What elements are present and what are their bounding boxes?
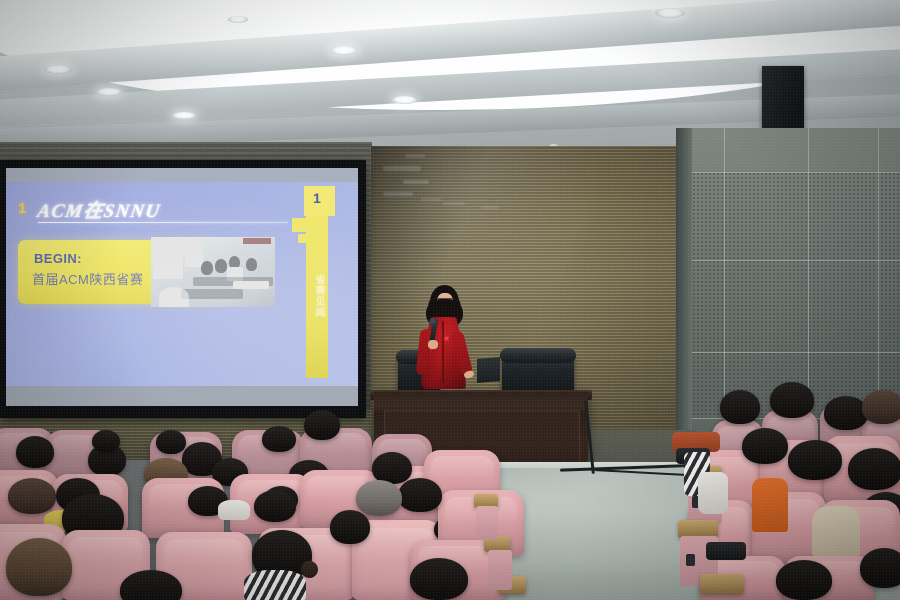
slide-begin-label: BEGIN: [34, 251, 82, 266]
screen-top-strip [6, 168, 358, 182]
wall-scuff [405, 154, 425, 158]
wall-scuff [443, 202, 465, 205]
slide-square [298, 234, 307, 243]
audience-head [848, 448, 900, 490]
stage-spotlight [630, 112, 676, 142]
presenter-hand [463, 370, 475, 380]
wall-scuff [481, 206, 499, 209]
audience-shoulders [812, 506, 860, 556]
audience-head [770, 382, 814, 418]
presenter-coat-button [445, 337, 448, 340]
presenter-coat-placket [442, 321, 444, 383]
audience-head [776, 560, 832, 600]
audience-head [860, 548, 900, 588]
slide-title-underline [38, 222, 288, 223]
photo-person [201, 261, 213, 275]
presentation-slide: 1 ACM在SNNU BEGIN: 首届ACM陕西省赛 [6, 182, 358, 386]
presenter [412, 285, 474, 403]
photo-person [215, 259, 227, 273]
audience-head [92, 430, 120, 452]
presenter-mic-hand [428, 340, 438, 349]
wall-scuff [383, 192, 413, 196]
audience-head [8, 478, 56, 514]
downlight [655, 8, 685, 18]
photo-banner [243, 238, 271, 244]
audience-head [742, 428, 788, 464]
audience-head [824, 396, 868, 430]
auditorium-photo: 1 ACM在SNNU BEGIN: 首届ACM陕西省赛 [0, 0, 900, 600]
downlight [44, 65, 72, 74]
seat-armrest [700, 574, 744, 594]
wall-scuff [421, 198, 441, 201]
seat-base [488, 550, 512, 590]
audience-shoulders [218, 500, 250, 520]
bag [706, 542, 746, 560]
audience-head [720, 390, 760, 424]
wall-scuff [403, 180, 429, 184]
downlight [172, 112, 196, 119]
audience-head [262, 426, 296, 452]
audience-shoulders [752, 478, 788, 532]
downlight [228, 16, 248, 23]
slide-embedded-photo [151, 237, 275, 307]
slide-square [292, 218, 306, 232]
audience-head [356, 480, 402, 516]
audience-head [156, 430, 186, 454]
projection-screen-frame: 1 ACM在SNNU BEGIN: 首届ACM陕西省赛 [0, 160, 366, 418]
slide-title: ACM在SNNU [36, 196, 163, 223]
audience-head [788, 440, 842, 480]
downlight [330, 46, 358, 55]
photo-window [153, 239, 183, 279]
slide-corner-number: 1 [313, 190, 321, 206]
photo-foreground [159, 287, 189, 307]
audience-head [330, 510, 370, 544]
seat-base [476, 506, 498, 540]
audience-head [304, 410, 340, 440]
downlight [392, 96, 417, 104]
audience-head [6, 538, 72, 596]
photo-paper [233, 281, 269, 289]
downlight [96, 88, 122, 96]
audience-head [254, 490, 296, 522]
audience-head [410, 558, 468, 600]
seat-side-plate [686, 554, 695, 566]
audience-head [862, 390, 900, 424]
audience-shoulders [698, 472, 728, 514]
stage-spotlight [470, 113, 516, 143]
microphone-head-icon [429, 318, 438, 326]
photo-window [185, 237, 203, 267]
photo-desk [181, 289, 243, 299]
audience-head [16, 436, 54, 468]
screen-bottom-strip [6, 386, 358, 406]
slide-section-number: 1 [18, 200, 26, 217]
stage-chair-headrest [500, 348, 576, 363]
slide-card-subtitle: 首届ACM陕西省赛 [32, 269, 143, 288]
photo-person [246, 258, 257, 271]
stage-monitor [477, 357, 500, 383]
slide-vertical-text: 省赛见闻 [308, 274, 324, 318]
projection-screen: 1 ACM在SNNU BEGIN: 首届ACM陕西省赛 [6, 168, 358, 406]
audience-shoulders [244, 570, 306, 600]
wall-scuff [383, 166, 421, 171]
audience-head [398, 478, 442, 512]
